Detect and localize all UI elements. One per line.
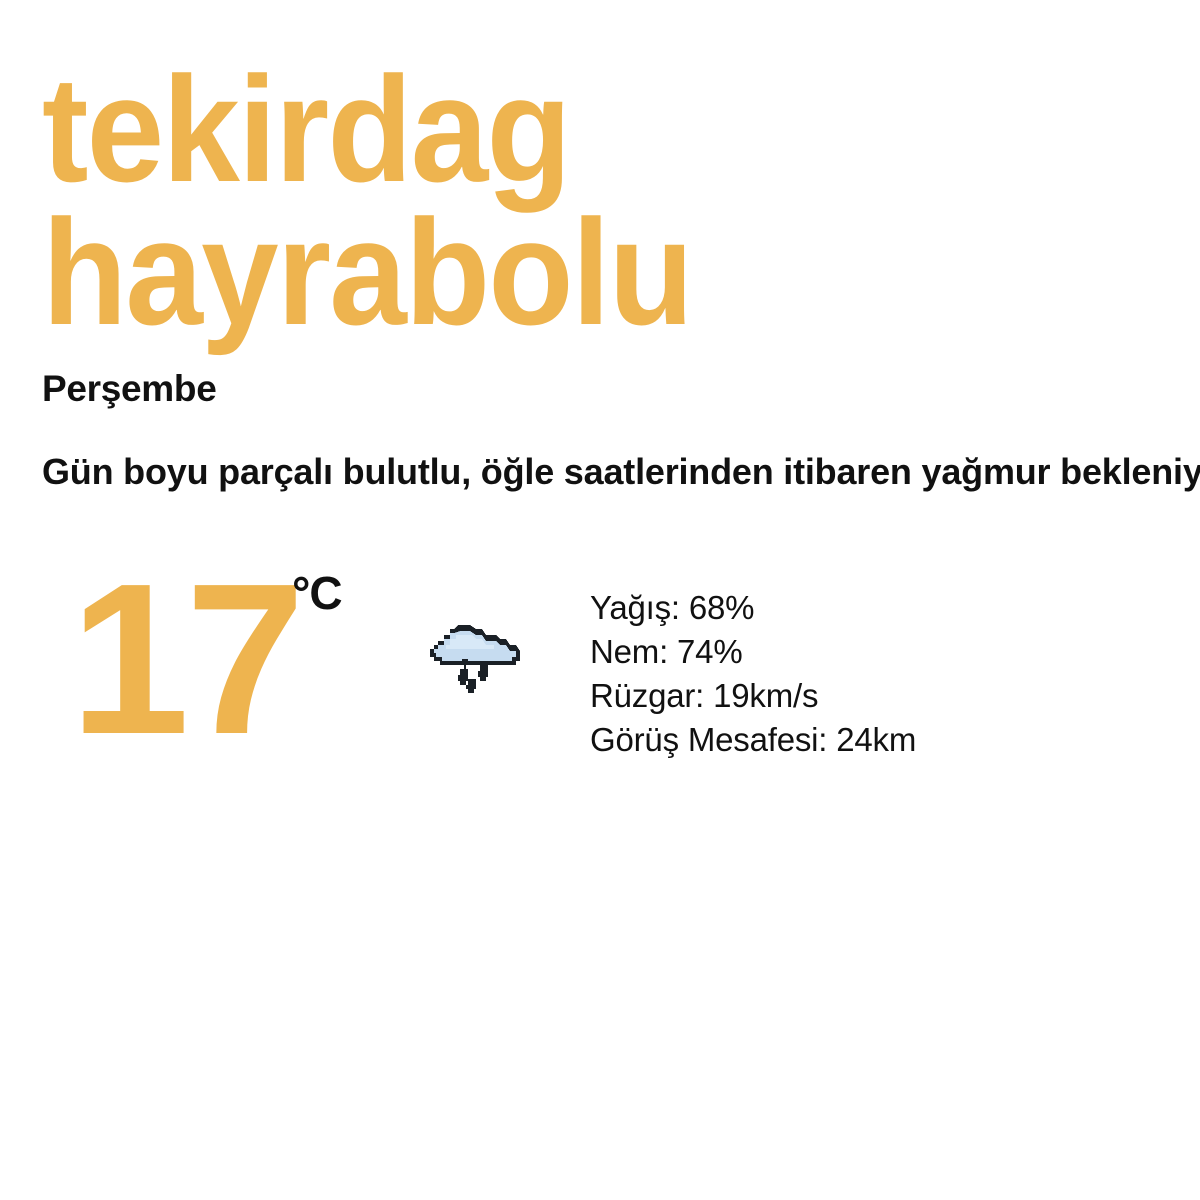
forecast-description: Gün boyu parçalı bulutlu, öğle saatlerin…: [42, 452, 1200, 492]
current-conditions-row: 17 °C Yağış: 68%: [0, 560, 1200, 790]
stat-visibility: Görüş Mesafesi: 24km: [590, 718, 916, 762]
weather-stats-list: Yağış: 68% Nem: 74% Rüzgar: 19km/s Görüş…: [590, 586, 916, 762]
temperature-unit: °C: [292, 570, 342, 616]
weather-card: tekirdag hayrabolu Perşembe Gün boyu par…: [0, 0, 1200, 1200]
temperature-value: 17: [70, 560, 301, 758]
day-label: Perşembe: [42, 370, 217, 407]
page-title: tekirdag hayrabolu: [42, 58, 1121, 343]
rain-cloud-icon: [424, 617, 522, 697]
stat-humidity: Nem: 74%: [590, 630, 916, 674]
stat-wind: Rüzgar: 19km/s: [590, 674, 916, 718]
stat-precipitation: Yağış: 68%: [590, 586, 916, 630]
